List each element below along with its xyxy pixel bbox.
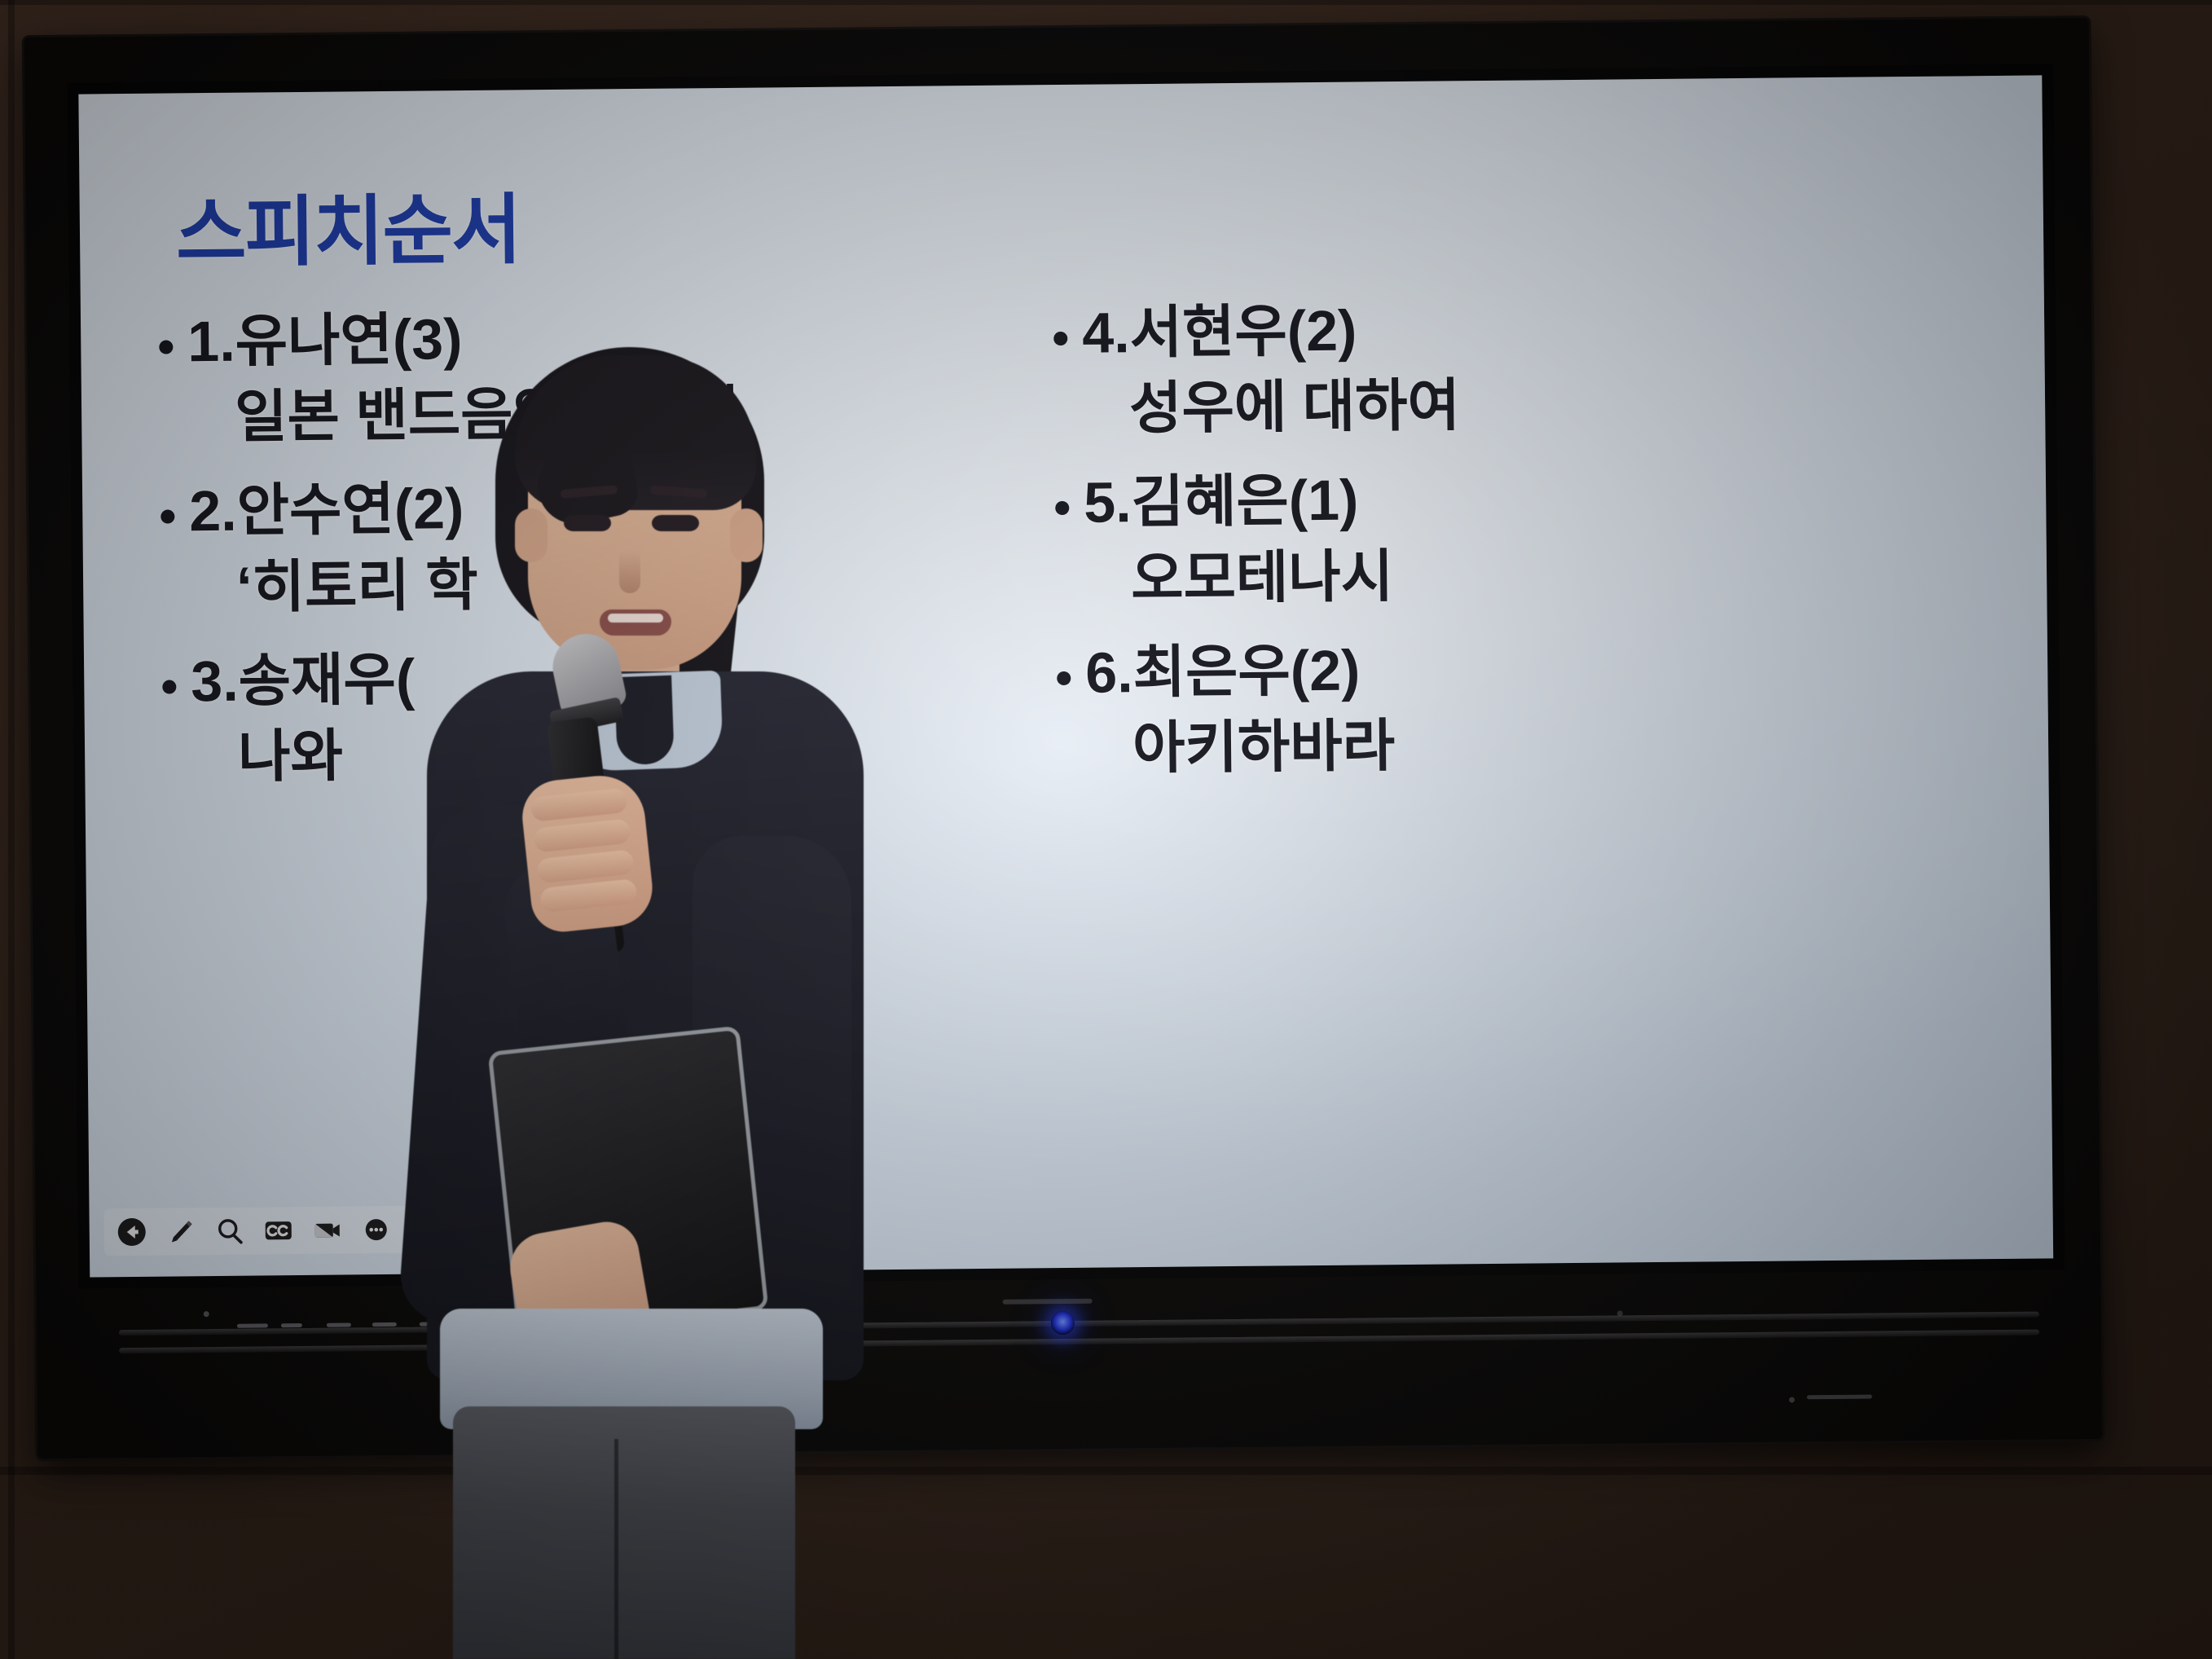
- mount-screw: [1789, 1397, 1795, 1402]
- speech-topic-5: 오모테나시: [1131, 539, 1880, 612]
- brand-mark: [1003, 1299, 1093, 1305]
- mouth: [600, 609, 671, 636]
- bullet-line-primary: 4.서현우(2): [1053, 293, 1877, 367]
- speaker-name-4: 4.서현우(2): [1082, 298, 1357, 367]
- speech-topic-6: 아키하바라: [1132, 708, 1881, 781]
- wall-seam-top: [0, 0, 2212, 5]
- status-indicator-dot: [204, 1311, 209, 1317]
- wall-seam-left: [8, 0, 15, 1659]
- jeans: [453, 1406, 795, 1659]
- speaker-name-3: 3.송재우(: [191, 646, 416, 715]
- presenter-toolbar: [103, 1205, 453, 1256]
- ear-right: [730, 508, 763, 562]
- hand-holding-microphone: [519, 772, 657, 935]
- speech-topic-4: 성우에 대하여: [1129, 369, 1878, 442]
- finger: [536, 849, 634, 883]
- closed-captions-icon: [262, 1214, 295, 1247]
- nose: [619, 551, 640, 593]
- bullet-line-primary: 5.김혜은(1): [1055, 463, 1879, 537]
- bullet-dot-icon: [162, 680, 176, 693]
- list-item: 6.최은우(2) 아키하바라: [1057, 632, 1881, 782]
- speaker-name-6: 6.최은우(2): [1085, 637, 1361, 706]
- camera-toggle-button[interactable]: [310, 1212, 345, 1248]
- finger: [533, 818, 631, 852]
- pen-tool-button[interactable]: [163, 1213, 199, 1249]
- power-led-indicator[interactable]: [1051, 1311, 1075, 1335]
- hardware-label-1: [237, 1323, 268, 1327]
- arrow-left-circle-icon: [116, 1216, 148, 1248]
- eye-right: [652, 515, 699, 531]
- previous-slide-button[interactable]: [114, 1214, 150, 1250]
- bullet-dot-icon: [1055, 501, 1069, 515]
- bullet-dot-icon: [1057, 671, 1071, 685]
- hair-front: [515, 355, 756, 510]
- captions-toggle-button[interactable]: [261, 1212, 297, 1248]
- bullet-dot-icon: [161, 510, 174, 524]
- magnifier-icon: [213, 1215, 246, 1248]
- bullet-line-primary: 6.최은우(2): [1057, 632, 1880, 706]
- hardware-label-3: [327, 1322, 351, 1327]
- list-item: 4.서현우(2) 성우에 대하여: [1053, 293, 1878, 442]
- pen-icon: [165, 1215, 197, 1248]
- slide-title: 스피치순서: [175, 168, 521, 282]
- finger: [539, 878, 637, 913]
- hardware-label-2: [281, 1323, 302, 1327]
- camera-off-icon: [311, 1214, 344, 1247]
- presenter-figure: [424, 347, 864, 1659]
- wall-seam-bottom: [0, 1467, 2212, 1475]
- bullet-dot-icon: [159, 340, 173, 354]
- powerpoint-slide[interactable]: 스피치순서 1.유나연(3) 일본 밴드음악과 인생 2.: [78, 75, 2053, 1277]
- ear-left: [515, 508, 548, 562]
- room-scene: 스피치순서 1.유나연(3) 일본 밴드음악과 인생 2.: [0, 0, 2212, 1659]
- speaker-name-1: 1.유나연(3): [187, 306, 463, 375]
- mount-bracket: [1807, 1395, 1872, 1400]
- sensor-dot: [1617, 1310, 1623, 1316]
- more-options-button[interactable]: [358, 1212, 394, 1248]
- right-column: 4.서현우(2) 성우에 대하여 5.김혜은(1) 오모테나시: [1053, 293, 1881, 810]
- hardware-label-4: [372, 1322, 397, 1327]
- eye-left: [564, 515, 611, 531]
- bullet-dot-icon: [1053, 332, 1067, 345]
- ellipsis-icon: [360, 1213, 393, 1246]
- interactive-display: 스피치순서 1.유나연(3) 일본 밴드음악과 인생 2.: [24, 18, 2103, 1459]
- zoom-tool-button[interactable]: [212, 1213, 248, 1249]
- speaker-name-5: 5.김혜은(1): [1084, 468, 1359, 536]
- list-item: 5.김혜은(1) 오모테나시: [1055, 463, 1880, 613]
- finger: [530, 788, 628, 822]
